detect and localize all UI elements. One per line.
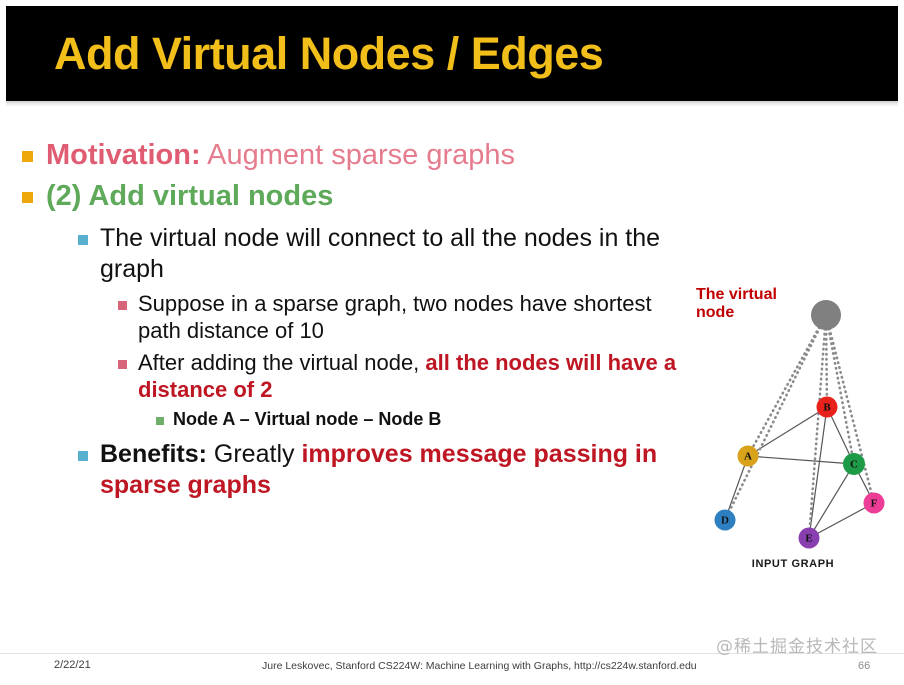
- graph-virtual-edge: [826, 329, 827, 398]
- footer-date: 2/22/21: [54, 659, 91, 671]
- benefits-label: Benefits:: [100, 440, 207, 468]
- bullet-sparse-graph-distance-text: Suppose in a sparse graph, two nodes hav…: [138, 291, 682, 345]
- page-number: 66: [858, 660, 870, 672]
- bullet-benefits: Benefits: Greatly improves message passi…: [78, 439, 682, 501]
- bullet-sparse-graph-distance: Suppose in a sparse graph, two nodes hav…: [118, 291, 682, 345]
- input-graph-figure: The virtual node BACFDE INPUT GRAPH: [690, 282, 896, 582]
- input-graph-label: INPUT GRAPH: [690, 558, 896, 570]
- node-label: B: [823, 402, 831, 414]
- node-label: D: [721, 515, 729, 527]
- graph-node-d: D: [715, 510, 736, 531]
- graph-edge: [814, 473, 849, 530]
- graph-virtual-edge: [753, 327, 820, 447]
- bullet-marker-square: [156, 417, 164, 425]
- slide-canvas: Add Virtual Nodes / Edges Motivation: Au…: [0, 0, 904, 685]
- bullet-after-adding-text: After adding the virtual node, all the n…: [138, 350, 682, 404]
- node-label: F: [871, 498, 878, 510]
- bullet-virtual-node-connects: The virtual node will connect to all the…: [78, 223, 682, 285]
- bullet-add-virtual-nodes: (2) Add virtual nodes: [22, 179, 682, 214]
- node-label: C: [850, 459, 858, 471]
- slide-body: Motivation: Augment sparse graphs (2) Ad…: [22, 132, 682, 501]
- bullet-marker-square: [78, 235, 88, 245]
- graph-node-a: A: [738, 446, 759, 467]
- bullet-motivation-text: Motivation: Augment sparse graphs: [46, 138, 682, 173]
- motivation-label: Motivation:: [46, 139, 201, 171]
- bullet-node-path: Node A – Virtual node – Node B: [156, 409, 682, 431]
- bullet-marker-square: [22, 151, 33, 162]
- graph-node-virtual: [811, 300, 841, 330]
- graph-edge: [756, 412, 819, 451]
- motivation-body: Augment sparse graphs: [201, 139, 515, 171]
- graph-node-e: E: [799, 528, 820, 549]
- footer-credit: Jure Leskovec, Stanford CS224W: Machine …: [262, 660, 697, 672]
- node-label: A: [744, 451, 752, 463]
- bullet-marker-square: [78, 451, 88, 461]
- graph-edge: [757, 457, 844, 464]
- graph-node-f: F: [864, 493, 885, 514]
- bullet-benefits-text: Benefits: Greatly improves message passi…: [100, 439, 682, 501]
- graph-edge: [728, 465, 745, 511]
- benefits-mid: Greatly: [207, 440, 301, 468]
- bullet-marker-square: [118, 360, 127, 369]
- bullet-add-virtual-nodes-text: (2) Add virtual nodes: [46, 179, 682, 214]
- bullet-virtual-node-connects-text: The virtual node will connect to all the…: [100, 223, 682, 285]
- add-virtual-nodes-label: (2) Add virtual nodes: [46, 180, 333, 212]
- graph-node-b: B: [817, 397, 838, 418]
- after-adding-lead: After adding the virtual node,: [138, 350, 425, 375]
- title-divider: [6, 103, 898, 106]
- slide-title: Add Virtual Nodes / Edges: [54, 28, 603, 80]
- node-label: E: [805, 533, 812, 545]
- watermark: @稀土掘金技术社区: [716, 632, 878, 657]
- bullet-node-path-text: Node A – Virtual node – Node B: [173, 409, 682, 431]
- node-circle: [811, 300, 841, 330]
- graph-virtual-edge: [810, 329, 825, 529]
- title-bar: Add Virtual Nodes / Edges: [6, 6, 898, 101]
- bullet-marker-square: [22, 192, 33, 203]
- bullet-motivation: Motivation: Augment sparse graphs: [22, 138, 682, 173]
- graph-node-c: C: [843, 453, 865, 475]
- bullet-after-adding: After adding the virtual node, all the n…: [118, 350, 682, 404]
- graph-diagram: BACFDE: [690, 282, 896, 557]
- bullet-marker-square: [118, 301, 127, 310]
